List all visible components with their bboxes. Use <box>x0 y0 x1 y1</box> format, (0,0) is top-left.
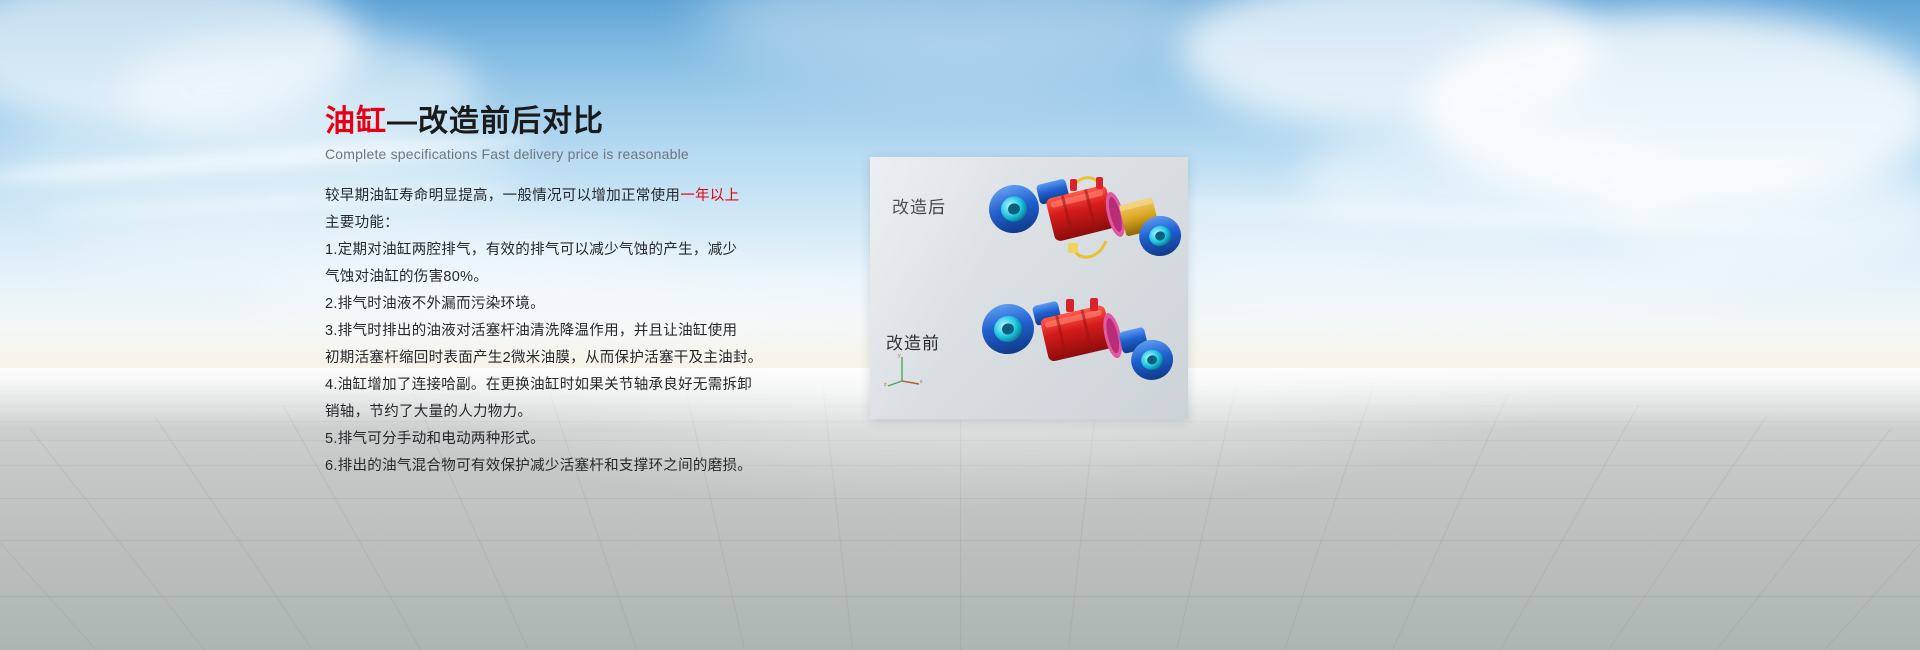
description-line: 6.排出的油气混合物可有效保护减少活塞杆和支撑环之间的磨损。 <box>325 453 845 480</box>
label-before-modification: 改造前 <box>886 329 940 354</box>
description-line: 主要功能： <box>325 210 845 237</box>
title-highlight: 油缸 <box>325 105 387 138</box>
page-title: 油缸—改造前后对比 <box>325 104 845 140</box>
description-line: 较早期油缸寿命明显提高，一般情况可以增加正常使用一年以上 <box>325 183 845 210</box>
feature-description: 较早期油缸寿命明显提高，一般情况可以增加正常使用一年以上主要功能：1.定期对油缸… <box>325 183 845 480</box>
description-line: 3.排气时排出的油液对活塞杆油清洗降温作用，并且让油缸使用 <box>325 318 845 345</box>
description-line: 2.排气时油液不外漏而污染环境。 <box>325 291 845 318</box>
title-rest: —改造前后对比 <box>387 105 604 138</box>
cylinder-before-illustration <box>974 287 1174 414</box>
cylinder-after-illustration <box>978 169 1182 294</box>
svg-text:x: x <box>920 379 923 385</box>
cloud-streak <box>1150 198 1850 236</box>
description-line: 初期活塞杆缩回时表面产生2微米油膜，从而保护活塞干及主油封。 <box>325 345 845 372</box>
description-text: 3.排气时排出的油液对活塞杆油清洗降温作用，并且让油缸使用 <box>325 323 737 339</box>
description-text: 4.油缸增加了连接哈副。在更换油缸时如果关节轴承良好无需拆卸 <box>325 377 752 393</box>
description-text: 5.排气可分手动和电动两种形式。 <box>325 431 545 447</box>
description-line: 1.定期对油缸两腔排气，有效的排气可以减少气蚀的产生，减少 <box>325 237 845 264</box>
description-text: 销轴，节约了大量的人力物力。 <box>325 404 532 420</box>
label-after-modification: 改造后 <box>892 193 946 218</box>
svg-text:y: y <box>898 353 901 359</box>
page-subtitle: Complete specifications Fast delivery pr… <box>325 144 845 164</box>
description-text: 主要功能： <box>325 215 399 231</box>
cloud-shape <box>1420 10 1920 210</box>
hero-banner: 油缸—改造前后对比 Complete specifications Fast d… <box>0 0 1920 650</box>
description-line: 气蚀对油缸的伤害80%。 <box>325 264 845 291</box>
banner-copy: 油缸—改造前后对比 Complete specifications Fast d… <box>325 104 845 480</box>
cloud-shape <box>1600 160 1920 270</box>
svg-text:z: z <box>884 382 887 387</box>
description-line: 销轴，节约了大量的人力物力。 <box>325 399 845 426</box>
description-text: 6.排出的油气混合物可有效保护减少活塞杆和支撑环之间的磨损。 <box>325 458 752 474</box>
axis-gizmo-icon: y x z <box>884 353 924 392</box>
cloud-shape <box>1150 250 1750 310</box>
cloud-shape <box>700 0 1220 80</box>
description-text: 较早期油缸寿命明显提高，一般情况可以增加正常使用 <box>325 188 680 204</box>
description-text: 气蚀对油缸的伤害80%。 <box>325 269 488 285</box>
cloud-shape <box>0 0 360 130</box>
description-text: 初期活塞杆缩回时表面产生2微米油膜，从而保护活塞干及主油封。 <box>325 350 763 366</box>
description-text: 1.定期对油缸两腔排气，有效的排气可以减少气蚀的产生，减少 <box>325 242 737 258</box>
description-line: 5.排气可分手动和电动两种形式。 <box>325 426 845 453</box>
cloud-shape <box>1180 0 1600 130</box>
description-highlight: 一年以上 <box>680 188 739 204</box>
description-text: 2.排气时油液不外漏而污染环境。 <box>325 296 545 312</box>
description-line: 4.油缸增加了连接哈副。在更换油缸时如果关节轴承良好无需拆卸 <box>325 372 845 399</box>
cloud-shape <box>1300 120 1680 240</box>
product-image-panel: 改造后 改造前 <box>870 157 1188 419</box>
